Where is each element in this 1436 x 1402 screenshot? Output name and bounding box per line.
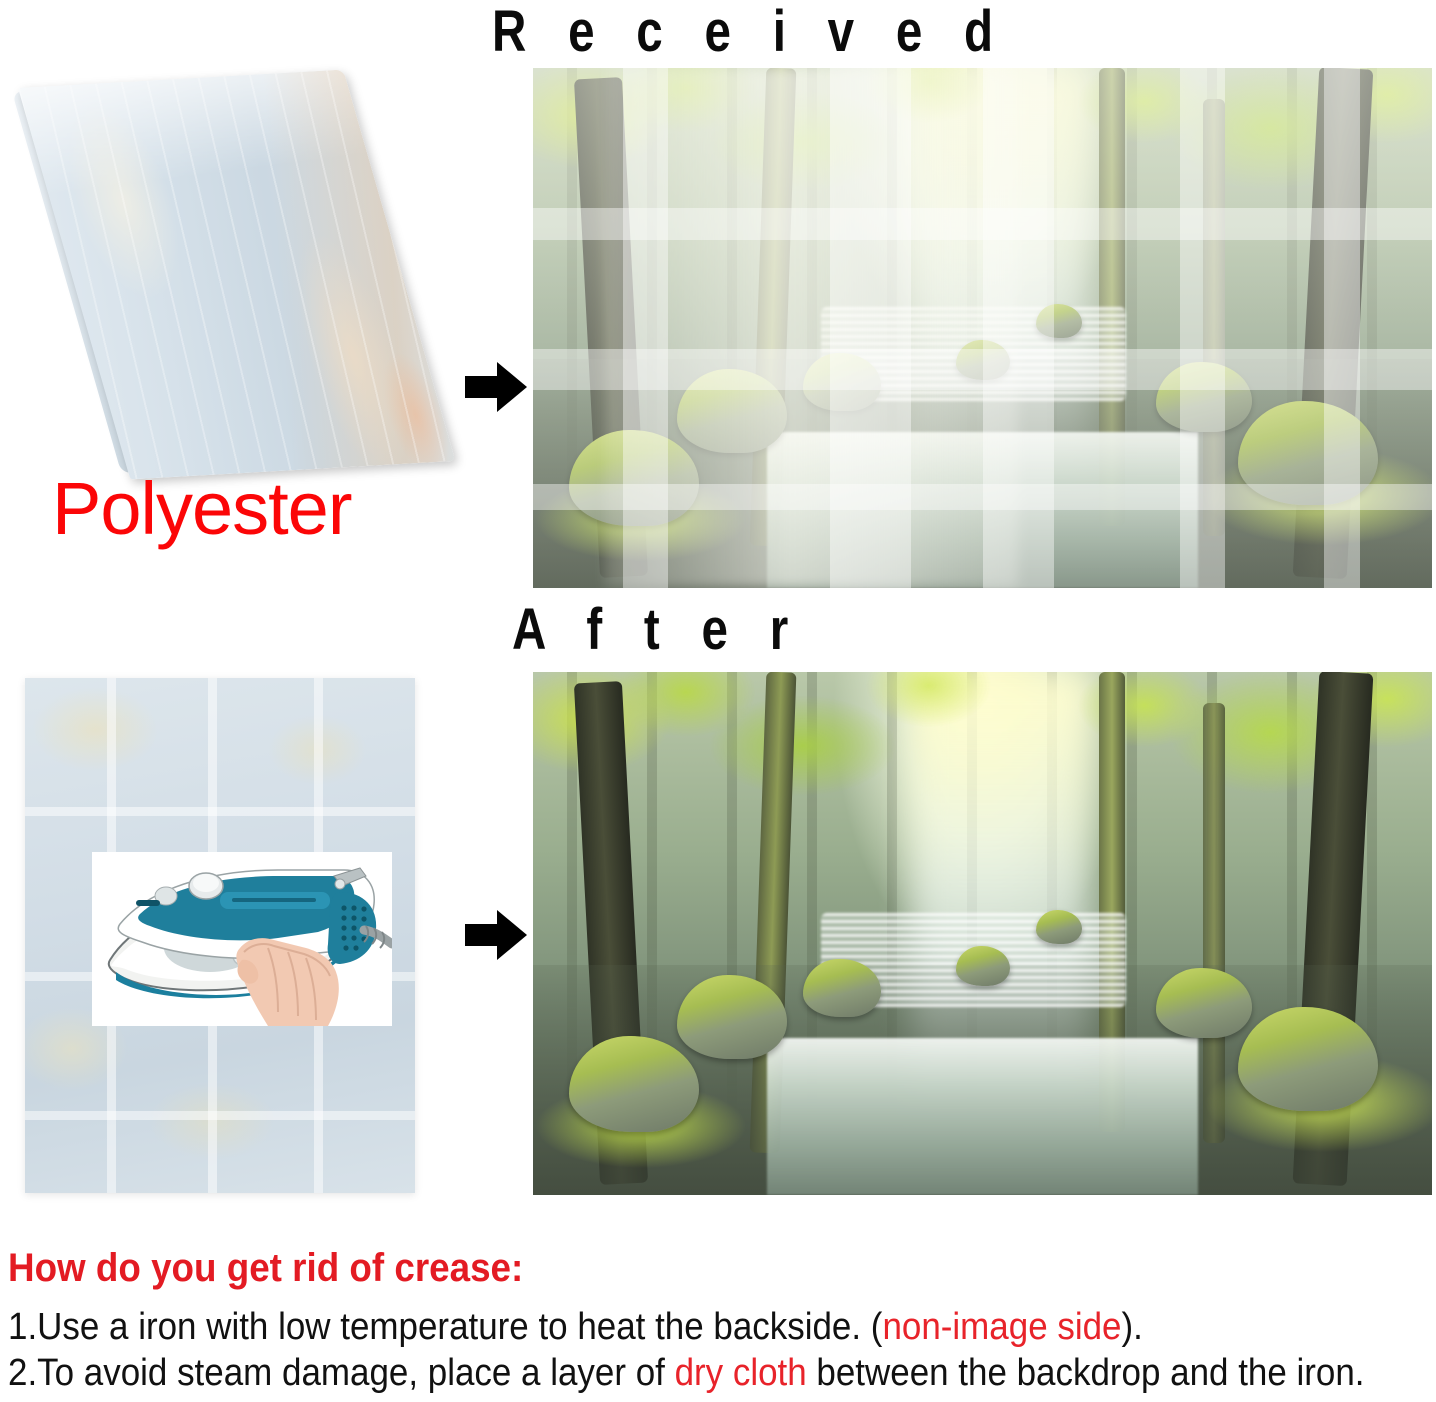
vertical-crease <box>1324 68 1360 588</box>
horizontal-fold-line <box>25 807 415 816</box>
vertical-crease <box>1180 68 1225 588</box>
right-arrow-icon-received <box>465 362 529 412</box>
horizontal-fold-line <box>25 1111 415 1120</box>
iron-and-hand-illustration <box>92 852 392 1026</box>
mossy-rock <box>956 946 1010 986</box>
after-backdrop-photo <box>533 672 1432 1195</box>
polyester-label: Polyester <box>52 466 351 551</box>
instruction-2-text-a: 2.To avoid steam damage, place a layer o… <box>8 1352 675 1394</box>
iron-demo-patch <box>92 852 392 1026</box>
infographic-canvas: R e c e i v e d Polyester <box>0 0 1436 1402</box>
vertical-crease <box>830 68 911 588</box>
vertical-crease <box>983 68 1055 588</box>
mossy-rock <box>1036 910 1082 944</box>
vertical-crease <box>623 68 668 588</box>
section-title-after: A f t e r <box>512 596 802 663</box>
instruction-1-text-b: ). <box>1121 1306 1142 1348</box>
instruction-1-highlight: non-image side <box>882 1306 1121 1348</box>
instruction-line-2: 2.To avoid steam damage, place a layer o… <box>8 1352 1365 1395</box>
mossy-rock <box>803 959 881 1017</box>
stream-water <box>767 1038 1199 1195</box>
folded-fabric-roll-image <box>18 88 418 488</box>
arrow-head <box>497 362 527 412</box>
instruction-1-text-a: 1.Use a iron with low temperature to hea… <box>8 1306 882 1348</box>
horizontal-crease <box>533 349 1432 391</box>
instruction-2-text-b: between the backdrop and the iron. <box>807 1352 1365 1394</box>
horizontal-crease <box>533 484 1432 510</box>
instructions-heading: How do you get rid of crease: <box>8 1246 523 1291</box>
arrow-head <box>497 910 527 960</box>
forest-scene-after <box>533 672 1432 1195</box>
right-arrow-icon-after <box>465 910 529 960</box>
horizontal-crease <box>533 208 1432 239</box>
instruction-line-1: 1.Use a iron with low temperature to hea… <box>8 1306 1143 1349</box>
instruction-2-highlight: dry cloth <box>675 1352 807 1394</box>
received-backdrop-photo <box>533 68 1432 588</box>
fold-crease-bands <box>533 68 1432 588</box>
arrow-shaft <box>465 376 499 398</box>
fabric-roll-sheet <box>18 70 455 480</box>
arrow-shaft <box>465 924 499 946</box>
section-title-received: R e c e i v e d <box>492 0 1007 65</box>
